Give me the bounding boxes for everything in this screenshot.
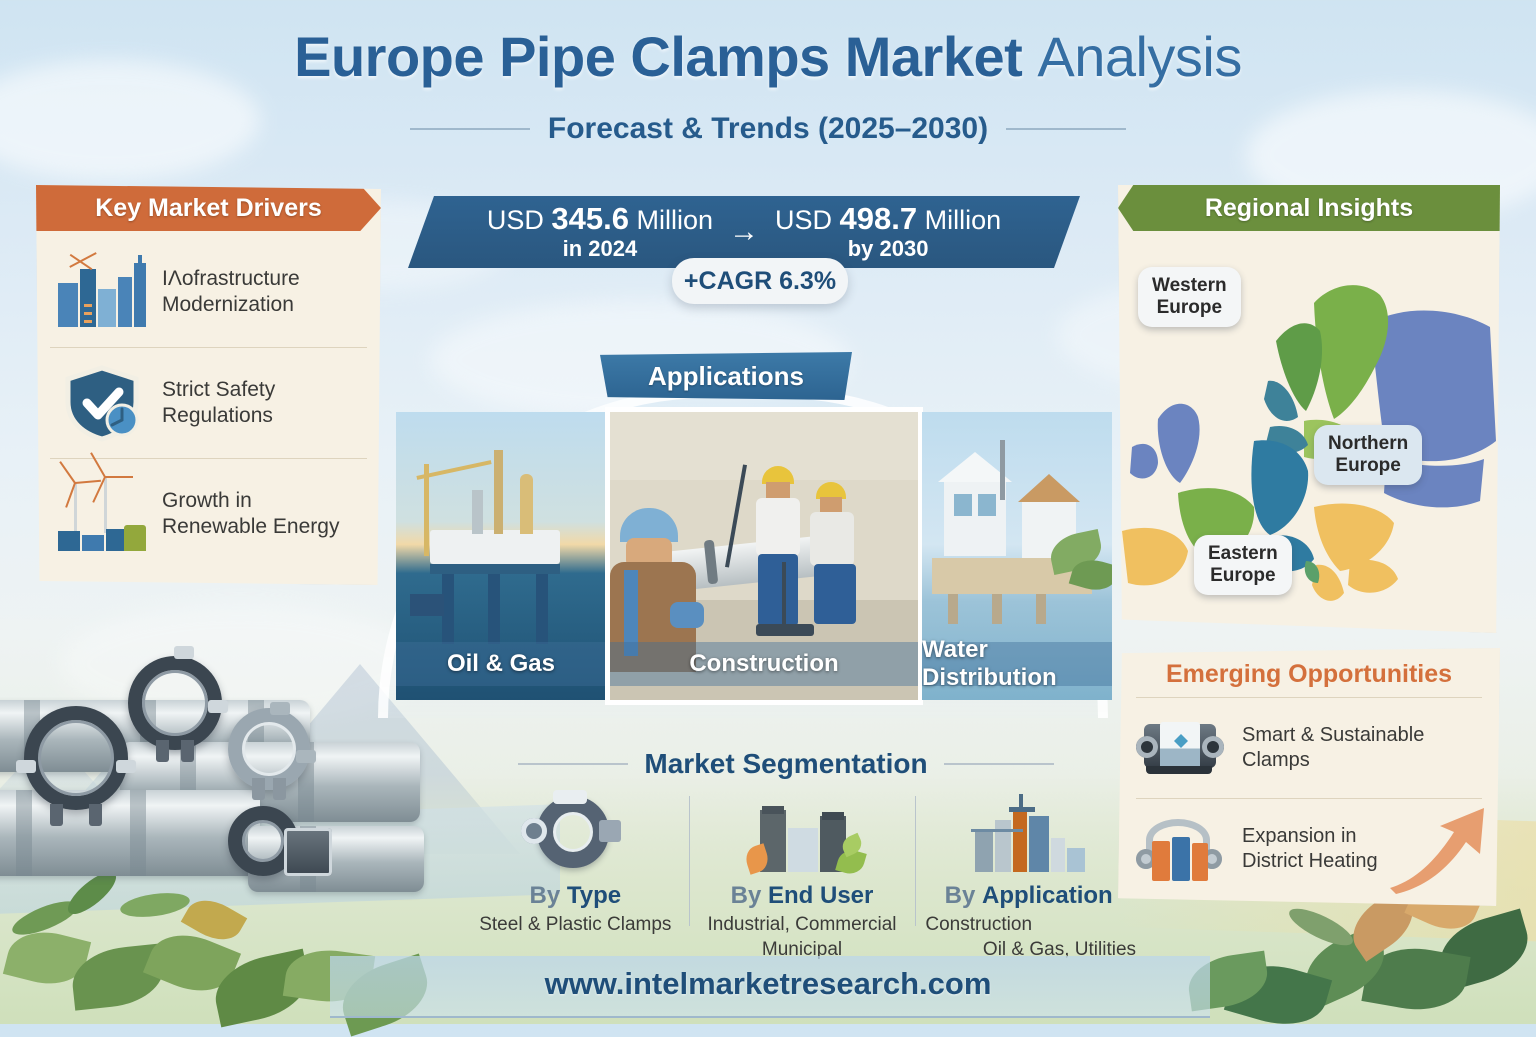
emerging-label: Smart & SustainableClamps — [1242, 723, 1424, 773]
stat-2024-unit: Million — [636, 205, 713, 235]
driver-item[interactable]: IΛofrastructureModernization — [50, 237, 367, 347]
page-title-bold: Europe Pipe Clamps Market — [294, 25, 1022, 88]
region-chip-line1: Northern — [1328, 433, 1408, 455]
stat-2030-unit: Million — [925, 205, 1002, 235]
segmentation-column-application[interactable]: By Application Construction Oil & Gas, U… — [915, 790, 1142, 960]
application-panel-water[interactable]: Water Distribution — [922, 412, 1112, 700]
clamp-bracket-icon — [284, 828, 332, 876]
region-chip-western[interactable]: Western Europe — [1138, 267, 1241, 327]
growth-arrow-icon — [1384, 800, 1494, 896]
segmentation-desc: Construction — [921, 913, 1136, 938]
emerging-item[interactable]: Smart & SustainableClamps — [1136, 697, 1482, 798]
segmentation-name: By Type — [468, 882, 683, 910]
pipe-clamp-icon — [128, 656, 222, 750]
segmentation-prefix: By — [731, 882, 762, 909]
drivers-banner: Key Market Drivers — [36, 185, 381, 231]
divider-right — [944, 763, 1054, 765]
key-market-drivers-card: Key Market Drivers IΛofrastructureModern… — [36, 185, 381, 585]
divider-right — [1006, 128, 1126, 130]
region-chip-line2: Europe — [1208, 565, 1278, 587]
drivers-list: IΛofrastructureModernization Strict Safe… — [36, 231, 381, 569]
application-caption: Water Distribution — [922, 642, 1112, 686]
driver-label: Growth inRenewable Energy — [162, 488, 339, 541]
pipe-clamp-icon — [228, 708, 310, 790]
pipe-icon — [0, 790, 260, 876]
segmentation-column-type[interactable]: By Type Steel & Plastic Clamps — [462, 790, 689, 960]
segmentation-prefix: By — [530, 882, 561, 909]
city-skyline-icon — [54, 253, 150, 331]
emerging-opportunities-card: Emerging Opportunities Smart & Sustainab… — [1118, 648, 1500, 906]
application-caption: Oil & Gas — [396, 642, 606, 686]
stat-2024-value: 345.6 — [551, 201, 629, 236]
stat-2030-value: 498.7 — [840, 201, 918, 236]
segmentation-row: By Type Steel & Plastic Clamps By End Us… — [462, 790, 1142, 960]
divider-left — [410, 128, 530, 130]
stat-2030-prefix: USD — [775, 205, 832, 235]
stat-2030: USD 498.7 Million by 2030 — [775, 202, 1001, 261]
europe-map[interactable]: Western Europe Northern Europe Eastern E… — [1118, 231, 1500, 631]
clamp-ring-icon — [515, 790, 635, 876]
arrow-right-icon: → — [729, 215, 759, 249]
application-panel-oil-gas[interactable]: Oil & Gas — [396, 412, 606, 700]
emerging-title: Emerging Opportunities — [1118, 648, 1500, 697]
segmentation-prefix: By — [945, 882, 976, 909]
regional-banner: Regional Insights — [1118, 185, 1500, 231]
segmentation-name: By End User — [695, 882, 910, 910]
pipe-clamp-illustration — [0, 648, 420, 948]
page-title: Europe Pipe Clamps Market Analysis — [0, 24, 1536, 89]
wind-turbine-icon — [54, 475, 150, 553]
pipe-clamp-icon — [24, 706, 128, 810]
applications-ribbon: Applications — [600, 352, 852, 400]
shield-check-icon — [54, 364, 150, 442]
segmentation-title-row: Market Segmentation — [446, 748, 1126, 780]
region-chip-eastern[interactable]: Eastern Europe — [1194, 535, 1292, 595]
stat-2024-year: in 2024 — [487, 237, 713, 262]
region-chip-line1: Eastern — [1208, 543, 1278, 565]
region-chip-line2: Europe — [1152, 297, 1227, 319]
application-panel-construction[interactable]: Construction — [610, 412, 918, 700]
regional-insights-card: Regional Insights — [1118, 185, 1500, 633]
segmentation-desc: Steel & Plastic Clamps — [468, 913, 683, 938]
segmentation-title: Market Segmentation — [644, 748, 927, 780]
segmentation-label: End User — [768, 882, 873, 909]
applications-strip: Oil & Gas Construction — [396, 412, 1112, 700]
factory-buildings-icon — [742, 790, 862, 876]
region-chip-line1: Western — [1152, 275, 1227, 297]
refinery-icon — [969, 790, 1089, 876]
segmentation-name: By Application — [921, 882, 1136, 910]
smart-clamp-icon — [1136, 714, 1228, 782]
divider-left — [518, 763, 628, 765]
driver-item[interactable]: Strict SafetyRegulations — [50, 347, 367, 458]
district-heating-icon — [1136, 815, 1228, 883]
segmentation-label: Application — [982, 882, 1113, 909]
region-chip-line2: Europe — [1328, 455, 1408, 477]
driver-item[interactable]: Growth inRenewable Energy — [50, 458, 367, 569]
segmentation-desc: Industrial, Commercial — [695, 913, 910, 938]
application-caption: Construction — [610, 642, 918, 686]
footer-url[interactable]: www.intelmarketresearch.com — [0, 966, 1536, 1002]
subtitle-row: Forecast & Trends (2025–2030) — [0, 112, 1536, 146]
page-title-light: Analysis — [1037, 25, 1242, 88]
stat-2024: USD 345.6 Million in 2024 — [487, 202, 713, 261]
cagr-badge: +CAGR 6.3% — [672, 258, 848, 304]
segmentation-label: Type — [567, 882, 621, 909]
driver-label: IΛofrastructureModernization — [162, 266, 300, 319]
stat-2024-prefix: USD — [487, 205, 544, 235]
segmentation-column-end-user[interactable]: By End User Industrial, Commercial Munic… — [689, 790, 916, 960]
emerging-label: Expansion inDistrict Heating — [1242, 824, 1378, 874]
page-subtitle: Forecast & Trends (2025–2030) — [548, 112, 988, 146]
driver-label: Strict SafetyRegulations — [162, 377, 275, 430]
region-chip-northern[interactable]: Northern Europe — [1314, 425, 1422, 485]
